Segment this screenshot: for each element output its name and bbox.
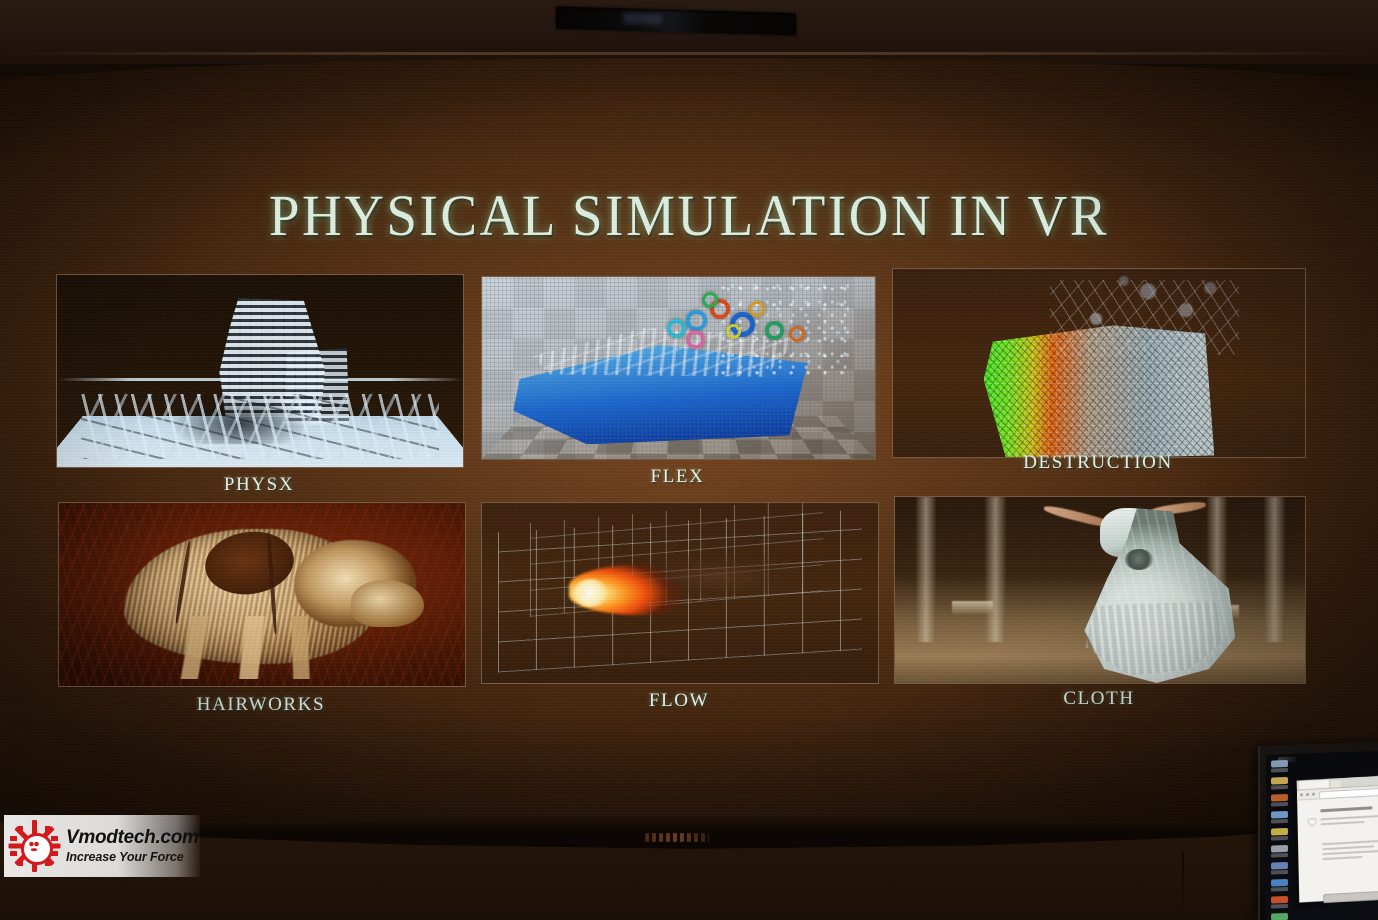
browser-window[interactable]	[1297, 775, 1378, 902]
desktop-icon-recycle-bin[interactable]	[1271, 760, 1288, 773]
desktop-icon-column[interactable]	[1271, 760, 1293, 920]
watermark: Vmodtech.com Increase Your Force	[4, 815, 200, 877]
broken-heart-icon	[1305, 815, 1318, 828]
browser-page-content	[1297, 795, 1378, 920]
desktop-icon-app[interactable]	[1271, 828, 1288, 841]
desktop-icon-app[interactable]	[1271, 879, 1288, 892]
ceiling-light-slot	[556, 7, 796, 36]
screen-surface: PHYSICAL SIMULATION IN VR	[0, 52, 1378, 852]
watermark-tagline: Increase Your Force	[66, 850, 200, 864]
wall-seam	[1182, 852, 1184, 920]
desktop-icon-app[interactable]	[1271, 794, 1288, 807]
screen-brand-logo	[645, 833, 709, 842]
desktop-icon-folder[interactable]	[1271, 777, 1288, 790]
projection-screen: PHYSICAL SIMULATION IN VR	[0, 52, 1378, 862]
desktop-icon-app[interactable]	[1271, 845, 1288, 858]
desktop-icon-app[interactable]	[1271, 811, 1288, 824]
page-action-button[interactable]	[1323, 891, 1378, 903]
desktop-icon-app[interactable]	[1271, 862, 1288, 875]
desk-monitor[interactable]	[1258, 742, 1378, 920]
watermark-text: Vmodtech.com Increase Your Force	[62, 828, 200, 865]
browser-tab-new[interactable]	[1331, 780, 1341, 788]
screenshot-root: PHYSICAL SIMULATION IN VR	[0, 0, 1378, 920]
vmodtech-logo-icon	[6, 818, 62, 874]
monitor-screen[interactable]	[1266, 751, 1378, 920]
page-bullet-list	[1322, 840, 1378, 863]
watermark-brand: Vmodtech.com	[66, 828, 200, 848]
desktop-icon-app[interactable]	[1271, 896, 1288, 909]
desktop-icon-app[interactable]	[1271, 913, 1288, 920]
screen-vignette	[0, 52, 1378, 852]
